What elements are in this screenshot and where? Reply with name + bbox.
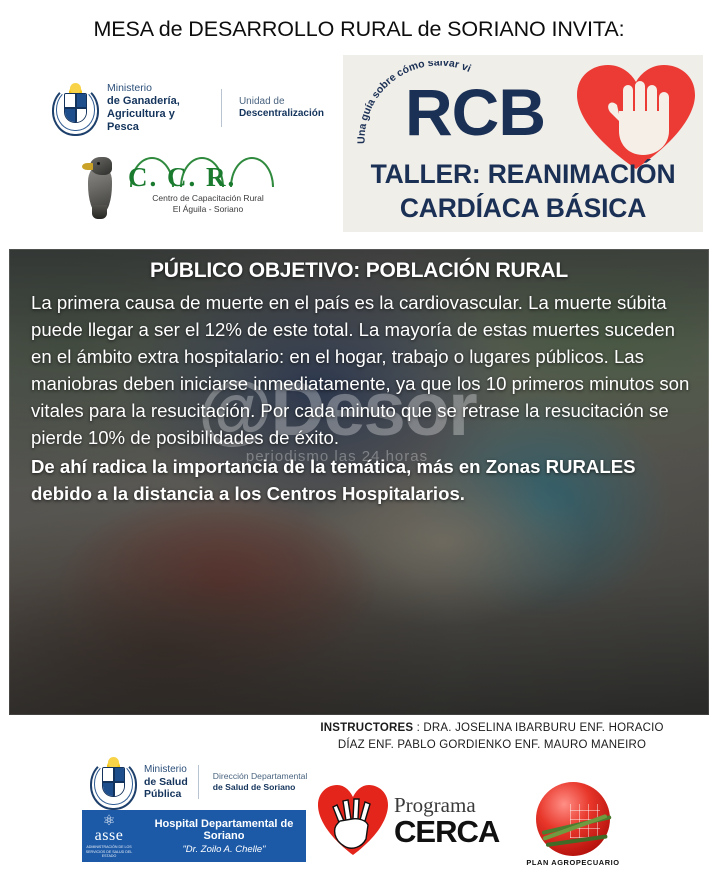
- instructors-names-1: : DRA. JOSELINA IBARBURU ENF. HORACIO: [413, 722, 663, 734]
- asse-brand-tiny: ADMINISTRACIÓN DE LOS SERVICIOS DE SALUD…: [82, 845, 136, 858]
- asse-hospital-logo: ⚛ asse ADMINISTRACIÓN DE LOS SERVICIOS D…: [82, 810, 306, 862]
- plan-agropecuario-caption: PLAN AGROPECUARIO: [518, 858, 628, 867]
- banner-body-copy: La primera causa de muerte en el país es…: [31, 289, 693, 507]
- mgap-line-2: de Ganadería,: [107, 95, 209, 108]
- asse-brand-mark: ⚛ asse ADMINISTRACIÓN DE LOS SERVICIOS D…: [82, 813, 136, 858]
- msp-unit-line-2: de Salud de Soriano: [213, 782, 308, 793]
- banner-paragraph: La primera causa de muerte en el país es…: [31, 292, 689, 448]
- asse-hospital-title: Hospital Departamental de Soriano: [142, 818, 306, 842]
- ccr-text-block: C. C. R. Centro de Capacitación Rural El…: [128, 155, 288, 216]
- heart-hands-icon: [318, 785, 388, 857]
- red-sphere-icon: [536, 782, 610, 856]
- plan-agropecuario-logo: PLAN AGROPECUARIO: [518, 782, 628, 862]
- programa-cerca-logo: Programa CERCA: [318, 782, 508, 860]
- mgap-divider: [221, 89, 222, 127]
- msp-logo: Ministerio de Salud Pública Dirección De…: [90, 758, 320, 806]
- mgap-logo: Ministerio de Ganadería, Agricultura y P…: [52, 78, 324, 138]
- cerca-line-2: CERCA: [394, 816, 499, 847]
- msp-unit-text: Dirección Departamental de Salud de Sori…: [213, 771, 308, 792]
- instructors-label: INSTRUCTORES: [320, 722, 413, 734]
- main-info-banner: @Desor periodismo las 24 horas PÚBLICO O…: [9, 249, 709, 715]
- asse-hospital-text: Hospital Departamental de Soriano "Dr. Z…: [142, 818, 306, 855]
- mgap-unit-line-1: Unidad de: [239, 96, 324, 109]
- mgap-line-1: Ministerio: [107, 82, 209, 94]
- cerca-line-1: Programa: [394, 795, 499, 816]
- msp-line-2: de Salud: [144, 776, 188, 788]
- msp-ministry-text: Ministerio de Salud Pública: [144, 764, 188, 800]
- asse-hospital-subtitle: "Dr. Zoilo A. Chelle": [142, 844, 306, 855]
- rcb-workshop-panel: Una guía sobre cómo salvar vidas RCB TAL…: [343, 55, 703, 232]
- ccr-sub-line-1: Centro de Capacitación Rural: [128, 193, 288, 204]
- page-title: MESA de DESARROLLO RURAL de SORIANO INVI…: [0, 17, 718, 42]
- mgap-ministry-text: Ministerio de Ganadería, Agricultura y P…: [107, 82, 209, 133]
- cerca-text: Programa CERCA: [394, 795, 499, 847]
- eagle-icon: [78, 155, 122, 219]
- msp-line-1: Ministerio: [144, 764, 188, 776]
- ccr-sub-line-2: El Águila - Soriano: [128, 204, 288, 215]
- ccr-logo: C. C. R. Centro de Capacitación Rural El…: [78, 155, 288, 227]
- target-audience-heading: PÚBLICO OBJETIVO: POBLACIÓN RURAL: [9, 259, 709, 283]
- uruguay-coat-of-arms-icon: [90, 755, 137, 810]
- instructors-line-1: INSTRUCTORES : DRA. JOSELINA IBARBURU EN…: [292, 720, 692, 737]
- ccr-subtitle: Centro de Capacitación Rural El Águila -…: [128, 193, 288, 216]
- asse-brand-word: asse: [82, 827, 136, 845]
- rcb-title-line-1: TALLER: REANIMACIÓN: [343, 159, 703, 190]
- instructors-block: INSTRUCTORES : DRA. JOSELINA IBARBURU EN…: [292, 720, 692, 753]
- uruguay-coat-of-arms-icon: [52, 81, 99, 136]
- mgap-unit-text: Unidad de Descentralización: [239, 96, 324, 121]
- ccr-letters: C. C. R.: [128, 162, 288, 193]
- msp-unit-line-1: Dirección Departamental: [213, 771, 308, 782]
- ccr-arcs-decor: C. C. R.: [128, 157, 288, 191]
- poster-root: MESA de DESARROLLO RURAL de SORIANO INVI…: [0, 0, 718, 869]
- heart-with-hand-icon: [577, 65, 695, 173]
- rcb-title-line-2: CARDÍACA BÁSICA: [343, 193, 703, 224]
- mgap-unit-line-2: Descentralización: [239, 108, 324, 121]
- instructors-line-2: DÍAZ ENF. PABLO GORDIENKO ENF. MAURO MAN…: [292, 737, 692, 754]
- asse-glyph-icon: ⚛: [82, 813, 136, 827]
- banner-paragraph-bold: De ahí radica la importancia de la temát…: [31, 453, 693, 507]
- msp-line-3: Pública: [144, 788, 188, 800]
- mgap-line-3: Agricultura y Pesca: [107, 108, 209, 134]
- rcb-acronym: RCB: [405, 79, 545, 145]
- msp-divider: [198, 765, 199, 799]
